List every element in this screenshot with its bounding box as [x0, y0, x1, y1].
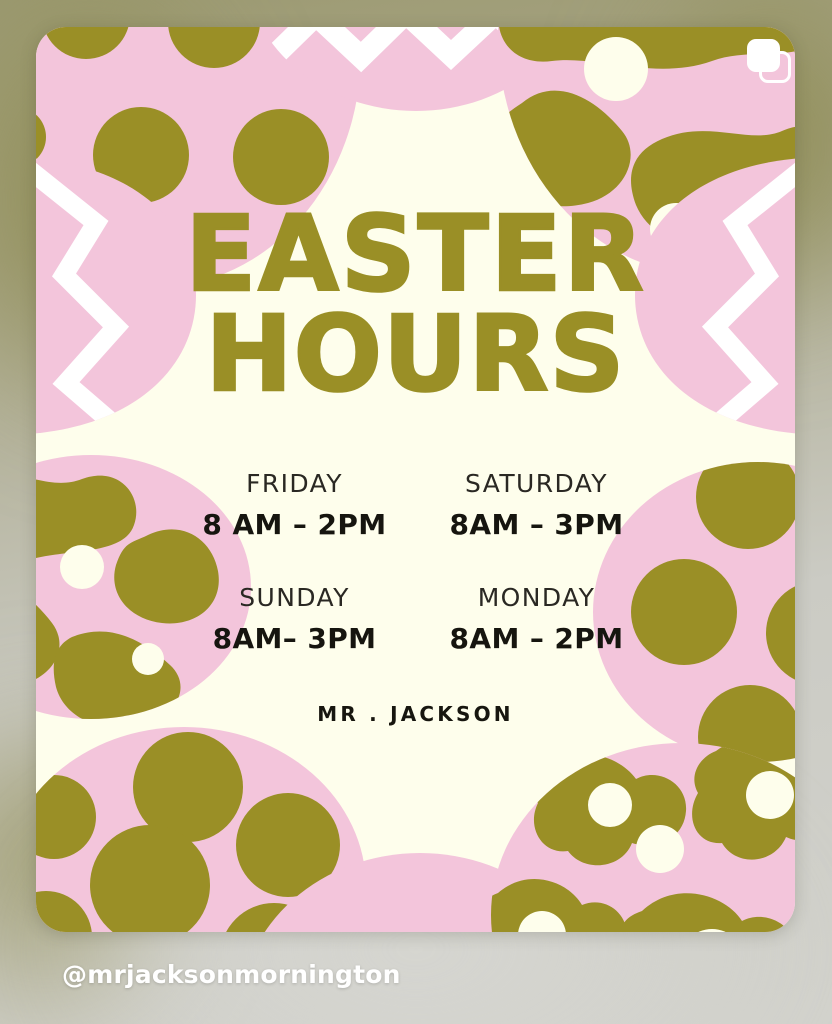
duplicate-icon-front-square — [747, 39, 780, 72]
hours-cell-friday: FRIDAY 8 AM – 2PM — [183, 469, 407, 541]
time-value-sunday: 8AM– 3PM — [183, 622, 407, 655]
opening-hours-grid: FRIDAY 8 AM – 2PM SATURDAY 8AM – 3PM SUN… — [183, 469, 649, 655]
day-label-sunday: SUNDAY — [183, 583, 407, 612]
time-value-monday: 8AM – 2PM — [425, 622, 649, 655]
day-label-saturday: SATURDAY — [425, 469, 649, 498]
time-value-saturday: 8AM – 3PM — [425, 508, 649, 541]
hours-cell-monday: MONDAY 8AM – 2PM — [425, 583, 649, 655]
easter-hours-poster-card[interactable]: EASTER HOURS FRIDAY 8 AM – 2PM SATURDAY … — [36, 27, 795, 932]
title-line-hours: HOURS — [185, 305, 646, 405]
time-value-friday: 8 AM – 2PM — [183, 508, 407, 541]
hours-cell-saturday: SATURDAY 8AM – 3PM — [425, 469, 649, 541]
duplicate-icon[interactable] — [747, 39, 791, 83]
business-name: MR . JACKSON — [317, 702, 513, 726]
day-label-friday: FRIDAY — [183, 469, 407, 498]
account-handle[interactable]: @mrjacksonmornington — [62, 960, 401, 989]
page-title: EASTER HOURS — [185, 205, 646, 405]
title-line-easter: EASTER — [185, 205, 646, 305]
hours-cell-sunday: SUNDAY 8AM– 3PM — [183, 583, 407, 655]
day-label-monday: MONDAY — [425, 583, 649, 612]
